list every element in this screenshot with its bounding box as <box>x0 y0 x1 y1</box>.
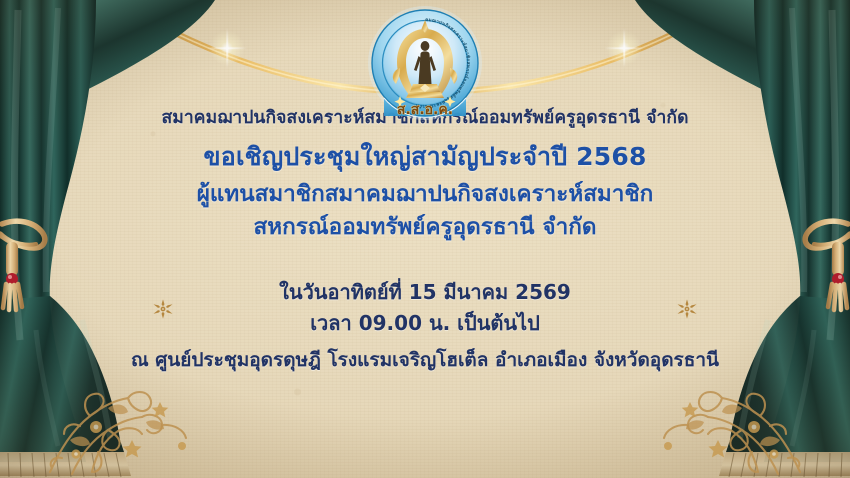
subject-line-2: สหกรณ์ออมทรัพย์ครูอุดรธานี จำกัด <box>0 214 850 241</box>
invitation-poster: สมาคมฌาปนกิจสงเคราะห์สมาชิกสหกรณ์ออมทรัพ… <box>0 0 850 478</box>
association-emblem: สมาคมฌาปนกิจสงเคราะห์สมาชิกสหกรณ์ออมทรัพ… <box>366 4 484 122</box>
event-venue: ณ ศูนย์ประชุมอุดรดุษฎี โรงแรมเจริญโฮเต็ล… <box>0 349 850 372</box>
event-date: ในวันอาทิตย์ที่ 15 มีนาคม 2569 <box>0 280 850 304</box>
floral-corner-ornament-left <box>42 368 232 478</box>
event-time: เวลา 09.00 น. เป็นต้นไป <box>0 311 850 335</box>
headline: ขอเชิญประชุมใหญ่สามัญประจำปี 2568 <box>0 142 850 173</box>
invitation-text-block: สมาคมฌาปนกิจสงเคราะห์สมาชิกสหกรณ์ออมทรัพ… <box>0 108 850 372</box>
emblem-abbreviation-text: ส.ส.อ.ค. <box>397 102 453 118</box>
event-details: ในวันอาทิตย์ที่ 15 มีนาคม 2569 เวลา 09.0… <box>0 280 850 372</box>
sparkle-left-icon <box>207 28 247 68</box>
subject-line-1: ผู้แทนสมาชิกสมาคมฌาปนกิจสงเคราะห์สมาชิก <box>0 181 850 208</box>
floral-corner-ornament-right <box>618 368 808 478</box>
sparkle-right-icon <box>604 28 644 68</box>
